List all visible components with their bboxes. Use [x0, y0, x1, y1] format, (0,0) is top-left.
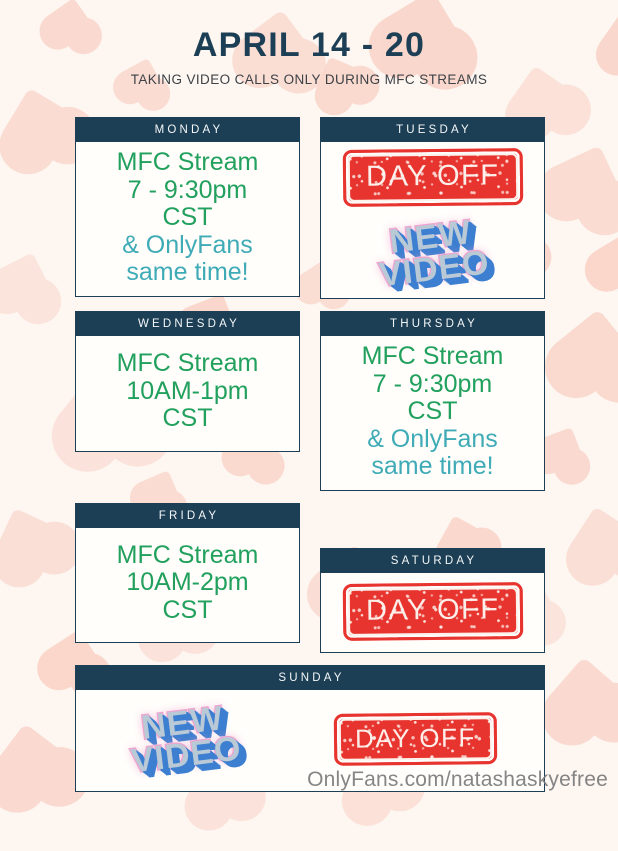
- schedule-row: FRIDAY MFC Stream 10AM-2pm CST SATURDAY …: [75, 503, 545, 653]
- day-header-sunday: SUNDAY: [76, 666, 544, 690]
- weekly-schedule-grid: MONDAY MFC Stream 7 - 9:30pm CST & OnlyF…: [75, 117, 545, 804]
- day-off-stamp-icon: DAY OFF: [334, 712, 497, 766]
- day-body-thursday: MFC Stream 7 - 9:30pm CST & OnlyFans sam…: [321, 336, 544, 490]
- day-card-friday[interactable]: FRIDAY MFC Stream 10AM-2pm CST: [75, 503, 300, 644]
- day-header-tuesday: TUESDAY: [321, 118, 544, 142]
- page-title: APRIL 14 - 20: [0, 26, 618, 65]
- day-body-wednesday: MFC Stream 10AM-1pm CST: [76, 336, 299, 451]
- new-video-line-2: VIDEO: [378, 247, 492, 292]
- day-column: MONDAY MFC Stream 7 - 9:30pm CST & OnlyF…: [75, 117, 300, 299]
- schedule-line: 7 - 9:30pm: [373, 371, 493, 399]
- footer-watermark: OnlyFans.com/natashaskyefree: [0, 768, 618, 792]
- day-header-saturday: SATURDAY: [321, 549, 544, 573]
- schedule-line: MFC Stream: [117, 542, 259, 570]
- day-column: WEDNESDAY MFC Stream 10AM-1pm CST: [75, 311, 300, 491]
- day-body-friday: MFC Stream 10AM-2pm CST: [76, 528, 299, 643]
- day-body-tuesday: DAY OFF NEW VIDEO: [321, 142, 544, 298]
- schedule-line: 10AM-2pm: [126, 569, 248, 597]
- day-header-friday: FRIDAY: [76, 504, 299, 528]
- day-header-wednesday: WEDNESDAY: [76, 312, 299, 336]
- schedule-line: MFC Stream: [117, 350, 259, 378]
- day-column: THURSDAY MFC Stream 7 - 9:30pm CST & Onl…: [320, 311, 545, 491]
- poster-header: APRIL 14 - 20 TAKING VIDEO CALLS ONLY DU…: [0, 0, 618, 87]
- day-header-monday: MONDAY: [76, 118, 299, 142]
- schedule-poster: APRIL 14 - 20 TAKING VIDEO CALLS ONLY DU…: [0, 0, 618, 800]
- day-off-stamp-icon: DAY OFF: [342, 582, 522, 641]
- schedule-line: CST: [163, 597, 213, 625]
- day-card-wednesday[interactable]: WEDNESDAY MFC Stream 10AM-1pm CST: [75, 311, 300, 452]
- day-off-stamp-label: DAY OFF: [348, 153, 518, 202]
- day-card-tuesday[interactable]: TUESDAY DAY OFF NEW VIDEO: [320, 117, 545, 299]
- day-column: FRIDAY MFC Stream 10AM-2pm CST: [75, 503, 300, 644]
- day-off-stamp-label: DAY OFF: [339, 718, 492, 762]
- new-video-sticker-icon: NEW VIDEO: [367, 211, 498, 297]
- schedule-row: MONDAY MFC Stream 7 - 9:30pm CST & OnlyF…: [75, 117, 545, 299]
- page-subtitle: TAKING VIDEO CALLS ONLY DURING MFC STREA…: [0, 72, 618, 87]
- day-card-monday[interactable]: MONDAY MFC Stream 7 - 9:30pm CST & OnlyF…: [75, 117, 300, 297]
- schedule-line: 10AM-1pm: [126, 378, 248, 406]
- schedule-line: MFC Stream: [362, 343, 504, 371]
- schedule-line: MFC Stream: [117, 149, 259, 177]
- schedule-line: & OnlyFans: [367, 426, 498, 454]
- schedule-row: WEDNESDAY MFC Stream 10AM-1pm CST THURSD…: [75, 311, 545, 491]
- day-off-stamp-icon: DAY OFF: [342, 148, 522, 207]
- schedule-line: CST: [408, 398, 458, 426]
- day-body-monday: MFC Stream 7 - 9:30pm CST & OnlyFans sam…: [76, 142, 299, 296]
- day-column: SATURDAY DAY OFF: [320, 548, 545, 653]
- schedule-line: same time!: [126, 259, 248, 287]
- schedule-line: CST: [163, 405, 213, 433]
- schedule-line: CST: [163, 204, 213, 232]
- day-card-thursday[interactable]: THURSDAY MFC Stream 7 - 9:30pm CST & Onl…: [320, 311, 545, 491]
- day-off-stamp-label: DAY OFF: [348, 587, 518, 636]
- schedule-line: & OnlyFans: [122, 232, 253, 260]
- schedule-line: same time!: [371, 453, 493, 481]
- schedule-line: 7 - 9:30pm: [128, 177, 248, 205]
- day-header-thursday: THURSDAY: [321, 312, 544, 336]
- day-body-saturday: DAY OFF: [321, 573, 544, 652]
- day-column: TUESDAY DAY OFF NEW VIDEO: [320, 117, 545, 299]
- day-card-saturday[interactable]: SATURDAY DAY OFF: [320, 548, 545, 653]
